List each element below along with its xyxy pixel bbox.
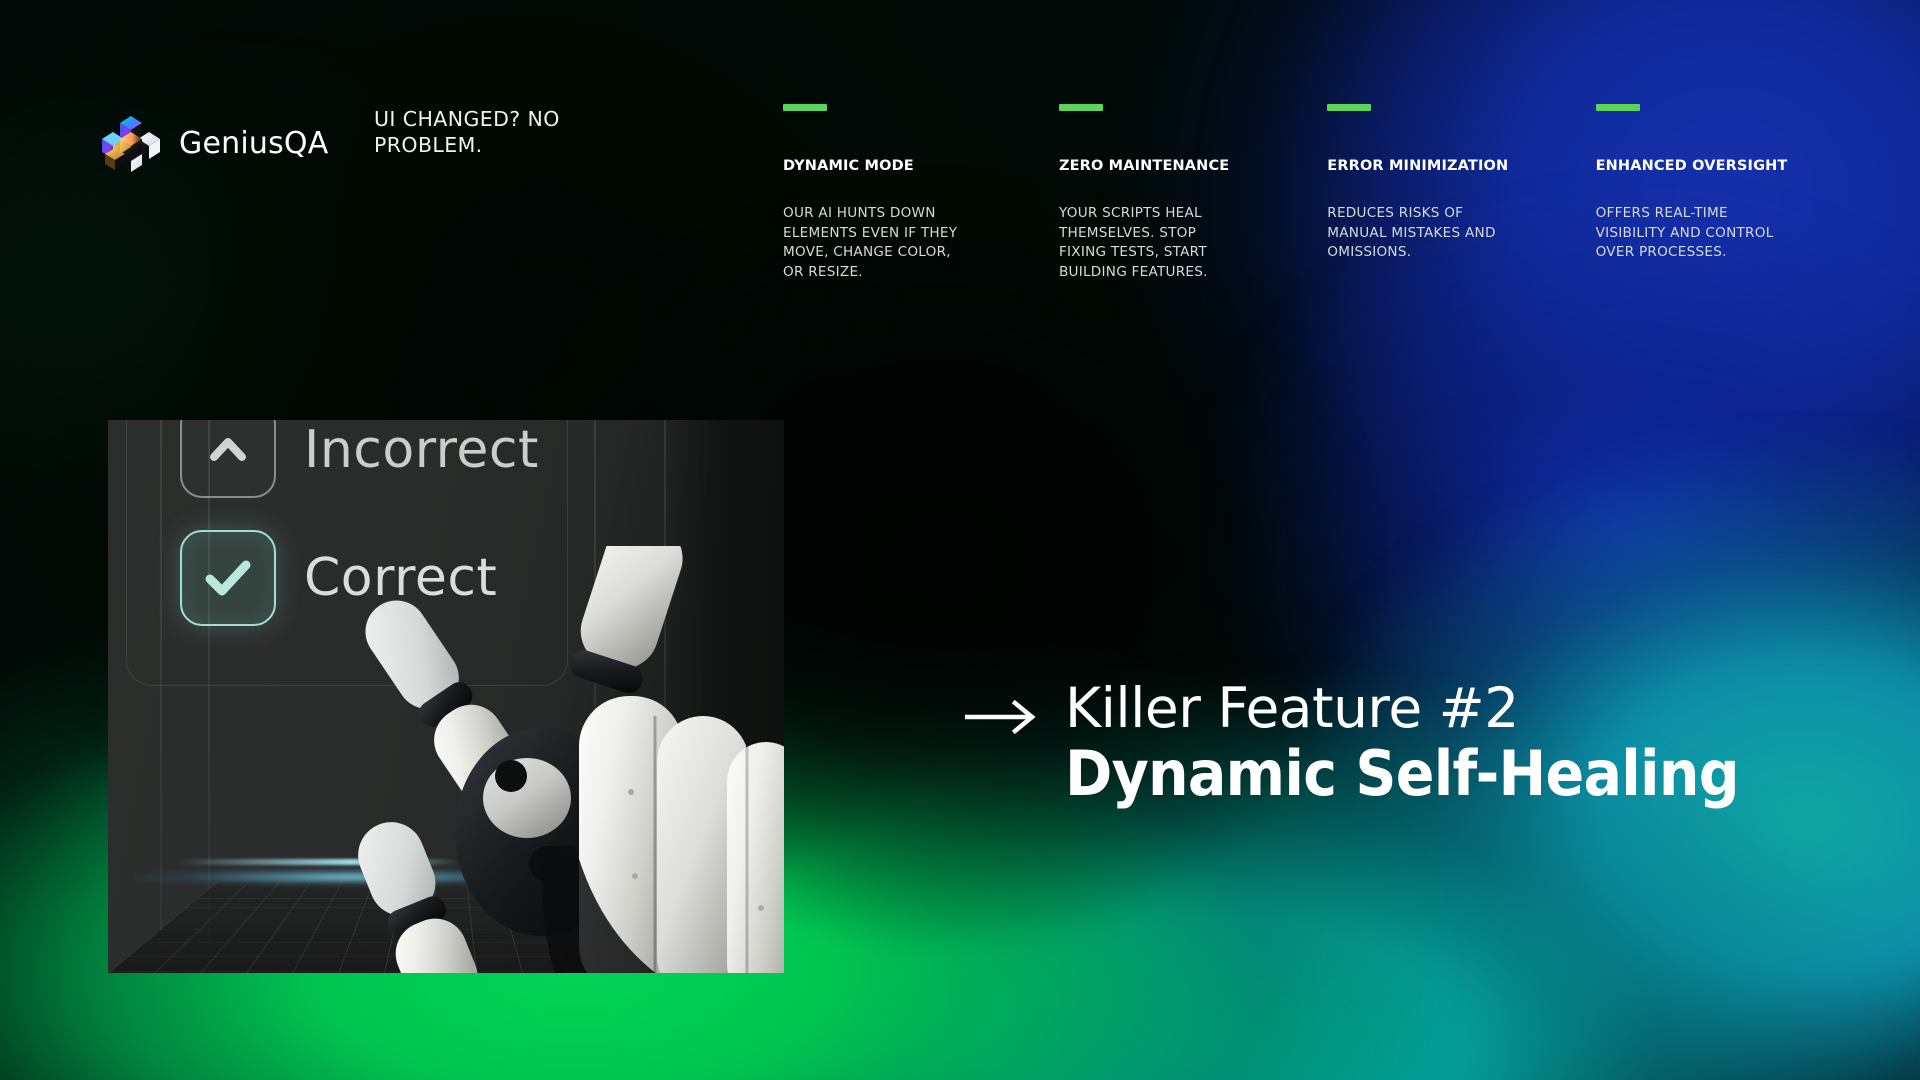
feature-body: REDUCES RISKS OF MANUAL MISTAKES AND OMI… [1327, 204, 1512, 263]
accent-bar [783, 104, 827, 111]
accent-bar [1327, 104, 1371, 111]
headline-block: Killer Feature #2 Dynamic Self-Healing [965, 678, 1797, 810]
tagline: UI CHANGED? NO PROBLEM. [374, 106, 634, 158]
feature-title: DYNAMIC MODE [783, 158, 1059, 174]
brand-lockup[interactable]: GeniusQA [100, 112, 328, 174]
brand-name: GeniusQA [179, 126, 328, 161]
feature-list: DYNAMIC MODE OUR AI HUNTS DOWN ELEMENTS … [783, 104, 1843, 282]
incorrect-label: Incorrect [304, 420, 539, 480]
feature-body: OUR AI HUNTS DOWN ELEMENTS EVEN IF THEY … [783, 204, 968, 282]
feature-screenshot: Incorrect Correct [108, 420, 784, 973]
option-row-incorrect[interactable]: Incorrect [180, 420, 539, 498]
feature-body: YOUR SCRIPTS HEAL THEMSELVES. STOP FIXIN… [1059, 204, 1244, 282]
check-mark-icon [197, 547, 259, 609]
feature-title: ZERO MAINTENANCE [1059, 158, 1327, 174]
feature-title: ENHANCED OVERSIGHT [1596, 158, 1843, 174]
cube-cluster-logo-icon [100, 112, 162, 174]
feature-body: OFFERS REAL-TIME VISIBILITY AND CONTROL … [1596, 204, 1781, 263]
accent-bar [1059, 104, 1103, 111]
robot-hand-icon [283, 546, 784, 973]
feature-item-dynamic-mode: DYNAMIC MODE OUR AI HUNTS DOWN ELEMENTS … [783, 104, 1059, 282]
feature-item-zero-maintenance: ZERO MAINTENANCE YOUR SCRIPTS HEAL THEMS… [1059, 104, 1327, 282]
incorrect-checkbox[interactable] [180, 420, 276, 498]
accent-bar [1596, 104, 1640, 111]
feature-item-error-minimization: ERROR MINIMIZATION REDUCES RISKS OF MANU… [1327, 104, 1595, 282]
header: GeniusQA UI CHANGED? NO PROBLEM. DYNAMIC… [0, 0, 1920, 300]
feature-item-enhanced-oversight: ENHANCED OVERSIGHT OFFERS REAL-TIME VISI… [1596, 104, 1843, 282]
feature-title: ERROR MINIMIZATION [1327, 158, 1595, 174]
headline-line-2: Dynamic Self-Healing [1065, 738, 1739, 810]
x-mark-icon [201, 423, 255, 477]
headline-line-1: Killer Feature #2 [1065, 678, 1797, 738]
arrow-right-icon [965, 700, 1039, 734]
correct-checkbox[interactable] [180, 530, 276, 626]
